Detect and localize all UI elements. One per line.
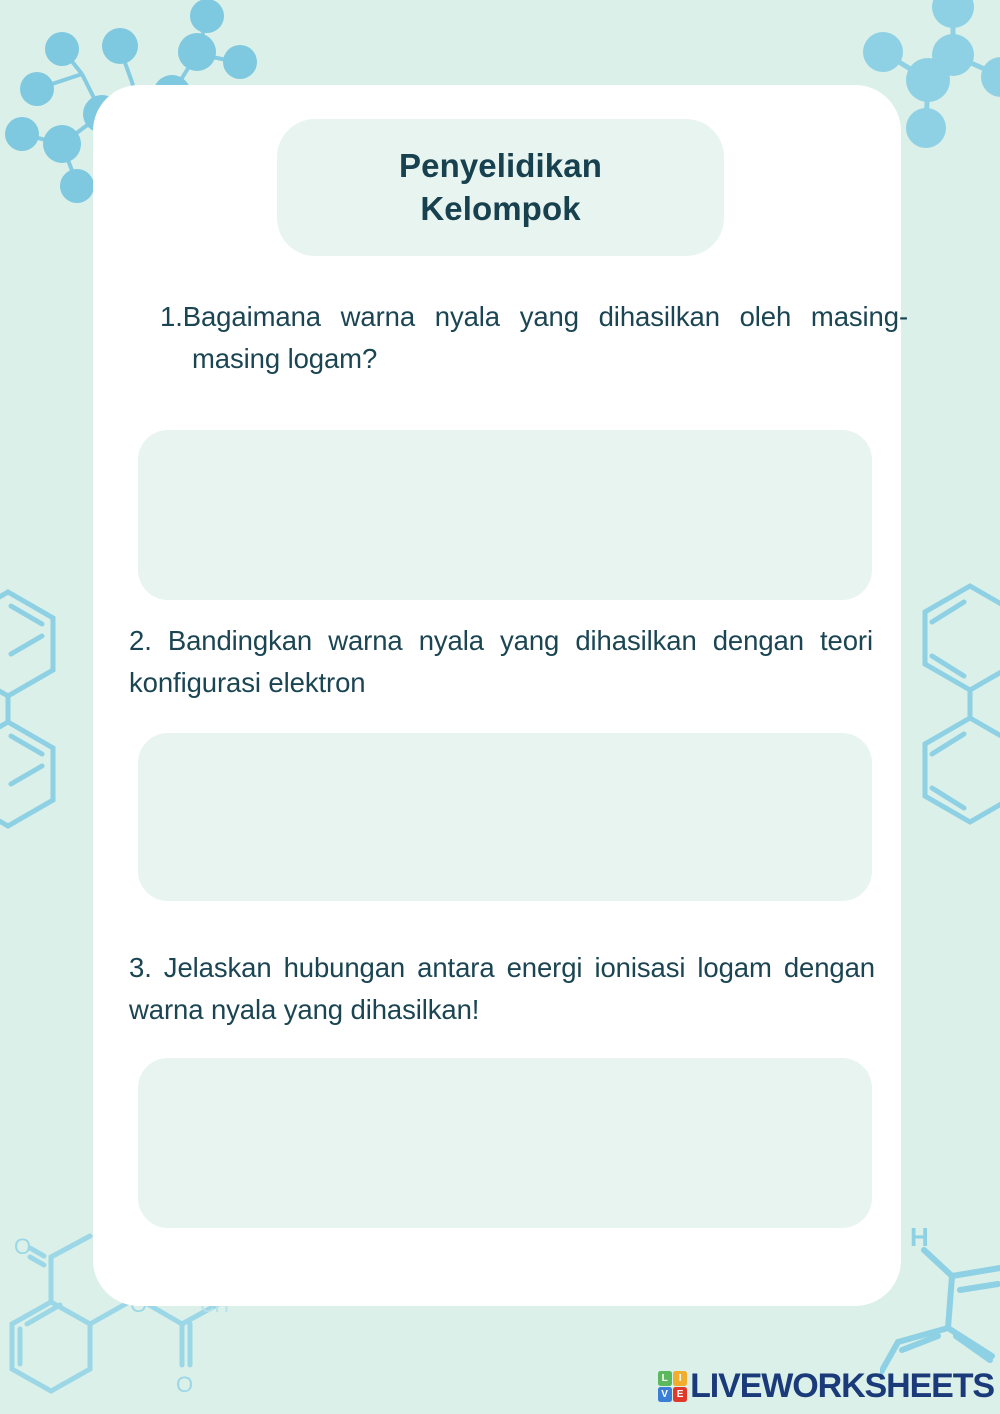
molecule-biphenyl-left	[0, 582, 98, 832]
page-title-line-2: Kelompok	[420, 189, 580, 229]
molecule-biphenyl-right	[902, 578, 1000, 828]
aspirin-top-oxygen-label: O	[14, 1234, 31, 1259]
question-3-text: 3. Jelaskan hubungan antara energi ionis…	[129, 947, 875, 1031]
answer-box-1[interactable]	[138, 430, 872, 600]
benzene-hydrogen-label: H	[910, 1224, 929, 1252]
question-1-number: 1.	[160, 301, 183, 332]
page-title: Penyelidikan Kelompok	[277, 119, 724, 256]
question-3-body: Jelaskan hubungan antara energi ionisasi…	[129, 952, 875, 1025]
logo-tile-i: I	[673, 1371, 687, 1386]
question-2-number: 2.	[129, 625, 152, 656]
logo-tile-e: E	[673, 1387, 687, 1402]
liveworksheets-wordmark: LIVEWORKSHEETS	[690, 1367, 994, 1406]
answer-box-2[interactable]	[138, 733, 872, 901]
question-2-body: Bandingkan warna nyala yang dihasilkan d…	[129, 625, 873, 698]
worksheet-page: O O O CH₃ H Penyelidikan Kelompok 1.Baga…	[0, 0, 1000, 1414]
logo-tile-l: L	[658, 1371, 672, 1386]
logo-tile-v: V	[658, 1387, 672, 1402]
question-1-body: Bagaimana warna nyala yang dihasilkan ol…	[183, 301, 908, 374]
question-2-text: 2. Bandingkan warna nyala yang dihasilka…	[129, 620, 873, 704]
aspirin-carbonyl-label: O	[176, 1372, 193, 1397]
question-1-text: 1.Bagaimana warna nyala yang dihasilkan …	[160, 296, 908, 380]
question-3-number: 3.	[129, 952, 152, 983]
liveworksheets-logo[interactable]: L I V E LIVEWORKSHEETS	[658, 1367, 994, 1406]
page-title-line-1: Penyelidikan	[399, 146, 602, 186]
liveworksheets-logo-icon: L I V E	[658, 1371, 688, 1403]
answer-box-3[interactable]	[138, 1058, 872, 1228]
